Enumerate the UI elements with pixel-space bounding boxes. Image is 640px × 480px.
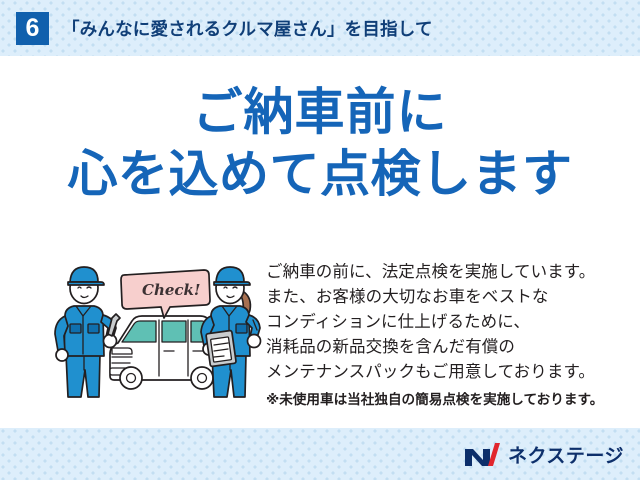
headline: ご納車前に 心を込めて点検します [0,84,640,202]
header-title: 「みんなに愛されるクルマ屋さん」を目指して [62,16,433,41]
headline-line-1: ご納車前に [0,84,640,140]
body-line-2: また、お客様の大切なお車をベストな [266,285,626,310]
brand-name: ネクステージ [508,441,624,468]
brand-logo: ネクステージ [464,440,624,468]
headline-line-2: 心を込めて点検します [0,146,640,202]
advertisement-page: 6 「みんなに愛されるクルマ屋さん」を目指して ご納車前に 心を込めて点検します… [0,0,640,480]
mechanics-illustration: .ln { fill:none; stroke:#231f20; stroke-… [52,258,262,398]
body-line-4: 消耗品の新品交換を含んだ有償の [266,335,626,360]
clipboard-graphic [206,330,236,366]
check-bubble-text: Check! [142,281,201,299]
body-line-3: コンディションに仕上げるために、 [266,310,626,335]
mechanics-illustration-svg: .ln { fill:none; stroke:#231f20; stroke-… [52,258,262,398]
nextage-n-logo-icon [464,442,500,467]
step-number-badge: 6 [16,12,49,45]
check-speech-bubble: Check! [121,270,210,318]
body-line-1: ご納車の前に、法定点検を実施しています。 [266,260,626,285]
body-copy: ご納車の前に、法定点検を実施しています。 また、お客様の大切なお車をベストな コ… [266,260,626,411]
body-line-5: メンテナンスパックもご用意しております。 [266,360,626,385]
header: 6 「みんなに愛されるクルマ屋さん」を目指して [0,0,640,56]
content-row: .ln { fill:none; stroke:#231f20; stroke-… [0,258,640,408]
body-footnote: ※未使用車は当社独自の簡易点検を実施しております。 [266,390,626,410]
